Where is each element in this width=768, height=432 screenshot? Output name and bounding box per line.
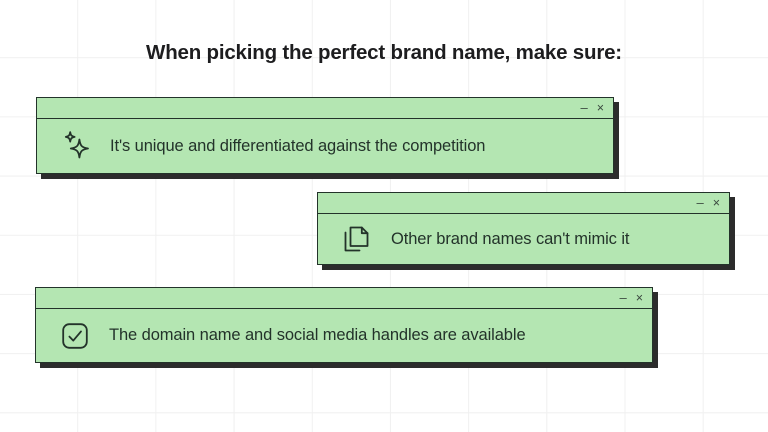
checkbox-checked-icon <box>58 319 92 353</box>
minimize-icon[interactable]: – <box>619 291 626 304</box>
card-domain-available[interactable]: – × The domain name and social media han… <box>35 287 653 363</box>
card-label: Other brand names can't mimic it <box>391 230 629 249</box>
page-title: When picking the perfect brand name, mak… <box>0 41 768 65</box>
card-body: The domain name and social media handles… <box>36 309 652 362</box>
card-body: Other brand names can't mimic it <box>318 214 729 264</box>
close-icon[interactable]: × <box>713 197 720 210</box>
card-unique-differentiated[interactable]: – × It's unique and differentiated again… <box>36 97 614 174</box>
card-label: It's unique and differentiated against t… <box>110 137 485 156</box>
close-icon[interactable]: × <box>597 102 604 115</box>
card-body: It's unique and differentiated against t… <box>37 119 613 173</box>
minimize-icon[interactable]: – <box>696 196 703 209</box>
minimize-icon[interactable]: – <box>580 101 587 114</box>
card-titlebar: – × <box>36 288 652 309</box>
card-label: The domain name and social media handles… <box>109 326 526 345</box>
card-no-mimic[interactable]: – × Other brand names can't mimic it <box>317 192 730 265</box>
card-titlebar: – × <box>318 193 729 214</box>
sparkles-icon <box>59 129 93 163</box>
close-icon[interactable]: × <box>636 292 643 305</box>
slide-canvas: When picking the perfect brand name, mak… <box>0 0 768 432</box>
card-titlebar: – × <box>37 98 613 119</box>
copy-documents-icon <box>340 222 374 256</box>
